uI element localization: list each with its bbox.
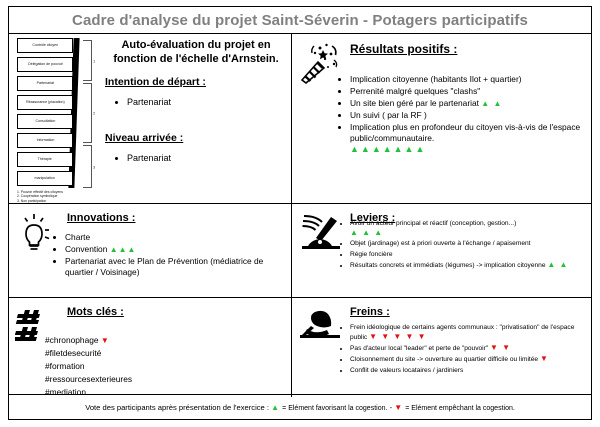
ladder-rung-label: manipulation xyxy=(35,177,55,181)
page-title: Cadre d'analyse du projet Saint-Séverin … xyxy=(72,12,528,29)
vote-marks: ▼ ▼ xyxy=(490,343,511,352)
list-item-text: Partenariat avec le Plan de Prévention (… xyxy=(65,256,263,277)
ladder-legend: 1. Pouvoir effectif des citoyens 2. Coop… xyxy=(17,190,101,203)
self-evaluation-content: Auto-évaluation du projet en fonction de… xyxy=(105,38,287,164)
self-evaluation-heading-line1: Auto-évaluation du projet en xyxy=(121,39,270,51)
ladder-rung: Consultation xyxy=(17,114,73,129)
ladder-rung-label: Thérapie xyxy=(38,158,52,162)
vote-legend-prefix: Vote des participants après présentation… xyxy=(85,403,269,412)
brakes-heading: Freins : xyxy=(350,306,390,318)
ladder-brackets: 1 2 3 xyxy=(79,40,99,188)
ladder-bracket-label: 3 xyxy=(93,164,95,169)
ladder-rung: Partenariat xyxy=(17,76,73,91)
list-item: Avoir un acteur principal et réactif (co… xyxy=(350,220,583,237)
list-item: Charte xyxy=(65,232,283,243)
ladder-bracket-label: 1 xyxy=(93,58,95,63)
positive-results-list-wrap: Implication citoyenne (habitants Ilot + … xyxy=(328,74,587,156)
list-item-text: Pas d'acteur local "leader" et perte de … xyxy=(350,345,488,352)
ladder-legend-item: 3. Non participation xyxy=(17,199,101,203)
list-item-text: Un site bien géré par le partenariat xyxy=(350,98,479,108)
list-item: Pas d'acteur local "leader" et perte de … xyxy=(350,344,583,354)
ladder-rung-label: Délégation de pouvoir xyxy=(28,63,63,67)
list-item-text: #ressourcesexterieures xyxy=(45,374,132,384)
ladder-rung: manipulation xyxy=(17,171,73,186)
vote-marks: ▲ ▲ ▲ xyxy=(350,229,583,238)
spacer xyxy=(105,108,287,122)
vote-marks-summary: ▲▲▲▲▲▲▲ xyxy=(350,144,583,155)
levers-list: Avoir un acteur principal et réactif (co… xyxy=(328,220,587,270)
ladder-bracket: 1 xyxy=(83,40,92,81)
positive-results-heading: Résultats positifs : xyxy=(350,42,457,56)
list-item-text: #filetdesecurité xyxy=(45,348,101,358)
ladder-rung: Information xyxy=(17,133,73,148)
vote-legend-text: Vote des participants après présentation… xyxy=(85,403,515,412)
panel-grid: Contrôle citoyen Délégation de pouvoir P… xyxy=(9,34,591,394)
list-item-text: Charte xyxy=(65,232,90,242)
list-item: Implication citoyenne (habitants Ilot + … xyxy=(350,74,583,85)
list-item-text: Cloisonnement du site -> ouverture au qu… xyxy=(350,356,538,363)
levers-list-wrap: Avoir un acteur principal et réactif (co… xyxy=(328,220,587,272)
panel-row-1: Contrôle citoyen Délégation de pouvoir P… xyxy=(9,34,591,204)
ladder-rung: Contrôle citoyen xyxy=(17,38,73,53)
list-item-text: Régie foncière xyxy=(350,251,393,258)
list-item: Résultats concrets et immédiats (légumes… xyxy=(350,261,583,271)
list-item-text: Un suivi ( par la RF ) xyxy=(350,110,427,120)
list-item: Cloisonnement du site -> ouverture au qu… xyxy=(350,355,583,365)
list-item: Partenariat xyxy=(127,96,287,108)
vote-marks: ▼ xyxy=(101,336,110,345)
vote-marks: ▼ ▼ ▼ ▼ ▼ xyxy=(369,332,426,341)
ladder-rung-label: Contrôle citoyen xyxy=(32,44,58,48)
arrival-level-label: Niveau arrivée : xyxy=(105,132,287,144)
list-item-text: Implication citoyenne (habitants Ilot + … xyxy=(350,74,522,84)
panel-brakes: Freins : Frein idéologique de certains a… xyxy=(292,298,591,397)
vote-legend-footer: Vote des participants après présentation… xyxy=(9,394,591,419)
legend-equals-down: = Elément empêchant la cogestion. xyxy=(405,405,515,412)
keywords-list: #chronophage ▼ #filetdesecurité #formati… xyxy=(45,334,132,397)
panel-innovations: Innovations : Charte Convention ▲▲▲ Part… xyxy=(9,204,292,298)
list-item: Régie foncière xyxy=(350,250,583,260)
list-item: Perrenité malgré quelques "clashs" xyxy=(350,86,583,97)
self-evaluation-heading: Auto-évaluation du projet en fonction de… xyxy=(105,38,287,66)
panel-keywords: Mots clés : #chronophage ▼ #filetdesecur… xyxy=(9,298,292,397)
list-item-text: Objet (jardinage) est à priori ouverte à… xyxy=(350,240,531,247)
panel-levers: Leviers : Avoir un acteur principal et r… xyxy=(292,204,591,298)
list-item-text: Conflit de valeurs locataires / jardinie… xyxy=(350,367,463,374)
ladder-rung-label: Réassurance (placation) xyxy=(26,101,65,105)
ladder-rung-label: Information xyxy=(36,139,54,143)
positive-results-list: Implication citoyenne (habitants Ilot + … xyxy=(328,74,587,155)
list-item: Partenariat avec le Plan de Prévention (… xyxy=(65,256,283,278)
list-item-text: #mediation xyxy=(45,387,86,397)
ladder-bracket: 2 xyxy=(83,83,92,143)
list-item: Objet (jardinage) est à priori ouverte à… xyxy=(350,239,583,249)
ladder-rung: Thérapie xyxy=(17,152,73,167)
list-item: Partenariat xyxy=(127,152,287,164)
ladder-rung-label: Consultation xyxy=(35,120,55,124)
panel-self-evaluation: Contrôle citoyen Délégation de pouvoir P… xyxy=(9,34,292,204)
ladder-bracket: 3 xyxy=(83,145,92,188)
down-triangle-icon: ▼ xyxy=(394,403,403,412)
list-item: Implication plus en profondeur du citoye… xyxy=(350,122,583,155)
innovations-heading: Innovations : xyxy=(67,212,135,224)
ladder-rung: Réassurance (placation) xyxy=(17,95,73,110)
list-item: #ressourcesexterieures xyxy=(45,373,132,386)
list-item: Frein idéologique de certains agents com… xyxy=(350,324,583,342)
list-item-text: Convention xyxy=(65,244,107,254)
list-item: #chronophage ▼ xyxy=(45,334,132,347)
list-item-text: #formation xyxy=(45,361,85,371)
innovations-list: Charte Convention ▲▲▲ Partenariat avec l… xyxy=(43,232,287,278)
ladder-rung-label: Partenariat xyxy=(36,82,53,86)
list-item: Un site bien géré par le partenariat ▲ ▲ xyxy=(350,98,583,109)
panel-positive-results: Résultats positifs : Implication citoyen… xyxy=(292,34,591,204)
ladder-rung: Délégation de pouvoir xyxy=(17,57,73,72)
title-band: Cadre d'analyse du projet Saint-Séverin … xyxy=(9,7,591,34)
legend-equals-up: = Elément favorisant la cogestion. xyxy=(282,405,387,412)
panel-row-3: Mots clés : #chronophage ▼ #filetdesecur… xyxy=(9,298,591,397)
self-evaluation-heading-line2: fonction de l'échelle d'Arnstein. xyxy=(113,53,278,65)
list-item: #formation xyxy=(45,360,132,373)
list-item: Un suivi ( par la RF ) xyxy=(350,110,583,121)
vote-marks: ▲▲▲ xyxy=(110,245,137,254)
list-item: #filetdesecurité xyxy=(45,347,132,360)
start-intention-list: Partenariat xyxy=(105,96,287,108)
up-triangle-icon: ▲ xyxy=(271,403,280,412)
list-item-text: Perrenité malgré quelques "clashs" xyxy=(350,86,480,96)
poster-frame: Cadre d'analyse du projet Saint-Séverin … xyxy=(8,6,592,420)
panel-row-2: Innovations : Charte Convention ▲▲▲ Part… xyxy=(9,204,591,298)
list-item-text: Résultats concrets et immédiats (légumes… xyxy=(350,262,546,269)
keywords-heading: Mots clés : xyxy=(67,306,124,318)
list-item-text: Implication plus en profondeur du citoye… xyxy=(350,122,580,143)
arrival-level-list: Partenariat xyxy=(105,152,287,164)
list-item-text: #chronophage xyxy=(45,335,99,345)
arnstein-ladder: Contrôle citoyen Délégation de pouvoir P… xyxy=(15,38,101,201)
legend-separator: - xyxy=(390,403,393,412)
list-item: Conflit de valeurs locataires / jardinie… xyxy=(350,366,583,376)
list-item: Convention ▲▲▲ xyxy=(65,244,283,255)
vote-marks: ▲ ▲ xyxy=(547,260,568,269)
list-item-text: Avoir un acteur principal et réactif (co… xyxy=(350,220,516,227)
vote-marks: ▲ ▲ xyxy=(481,99,502,108)
start-intention-label: Intention de départ : xyxy=(105,76,287,88)
vote-marks: ▼ xyxy=(540,354,549,363)
ladder-bracket-label: 2 xyxy=(93,111,95,116)
brakes-list-wrap: Frein idéologique de certains agents com… xyxy=(328,324,587,377)
brakes-list: Frein idéologique de certains agents com… xyxy=(328,324,587,375)
list-item: #mediation xyxy=(45,386,132,397)
innovations-list-wrap: Charte Convention ▲▲▲ Partenariat avec l… xyxy=(43,232,287,279)
